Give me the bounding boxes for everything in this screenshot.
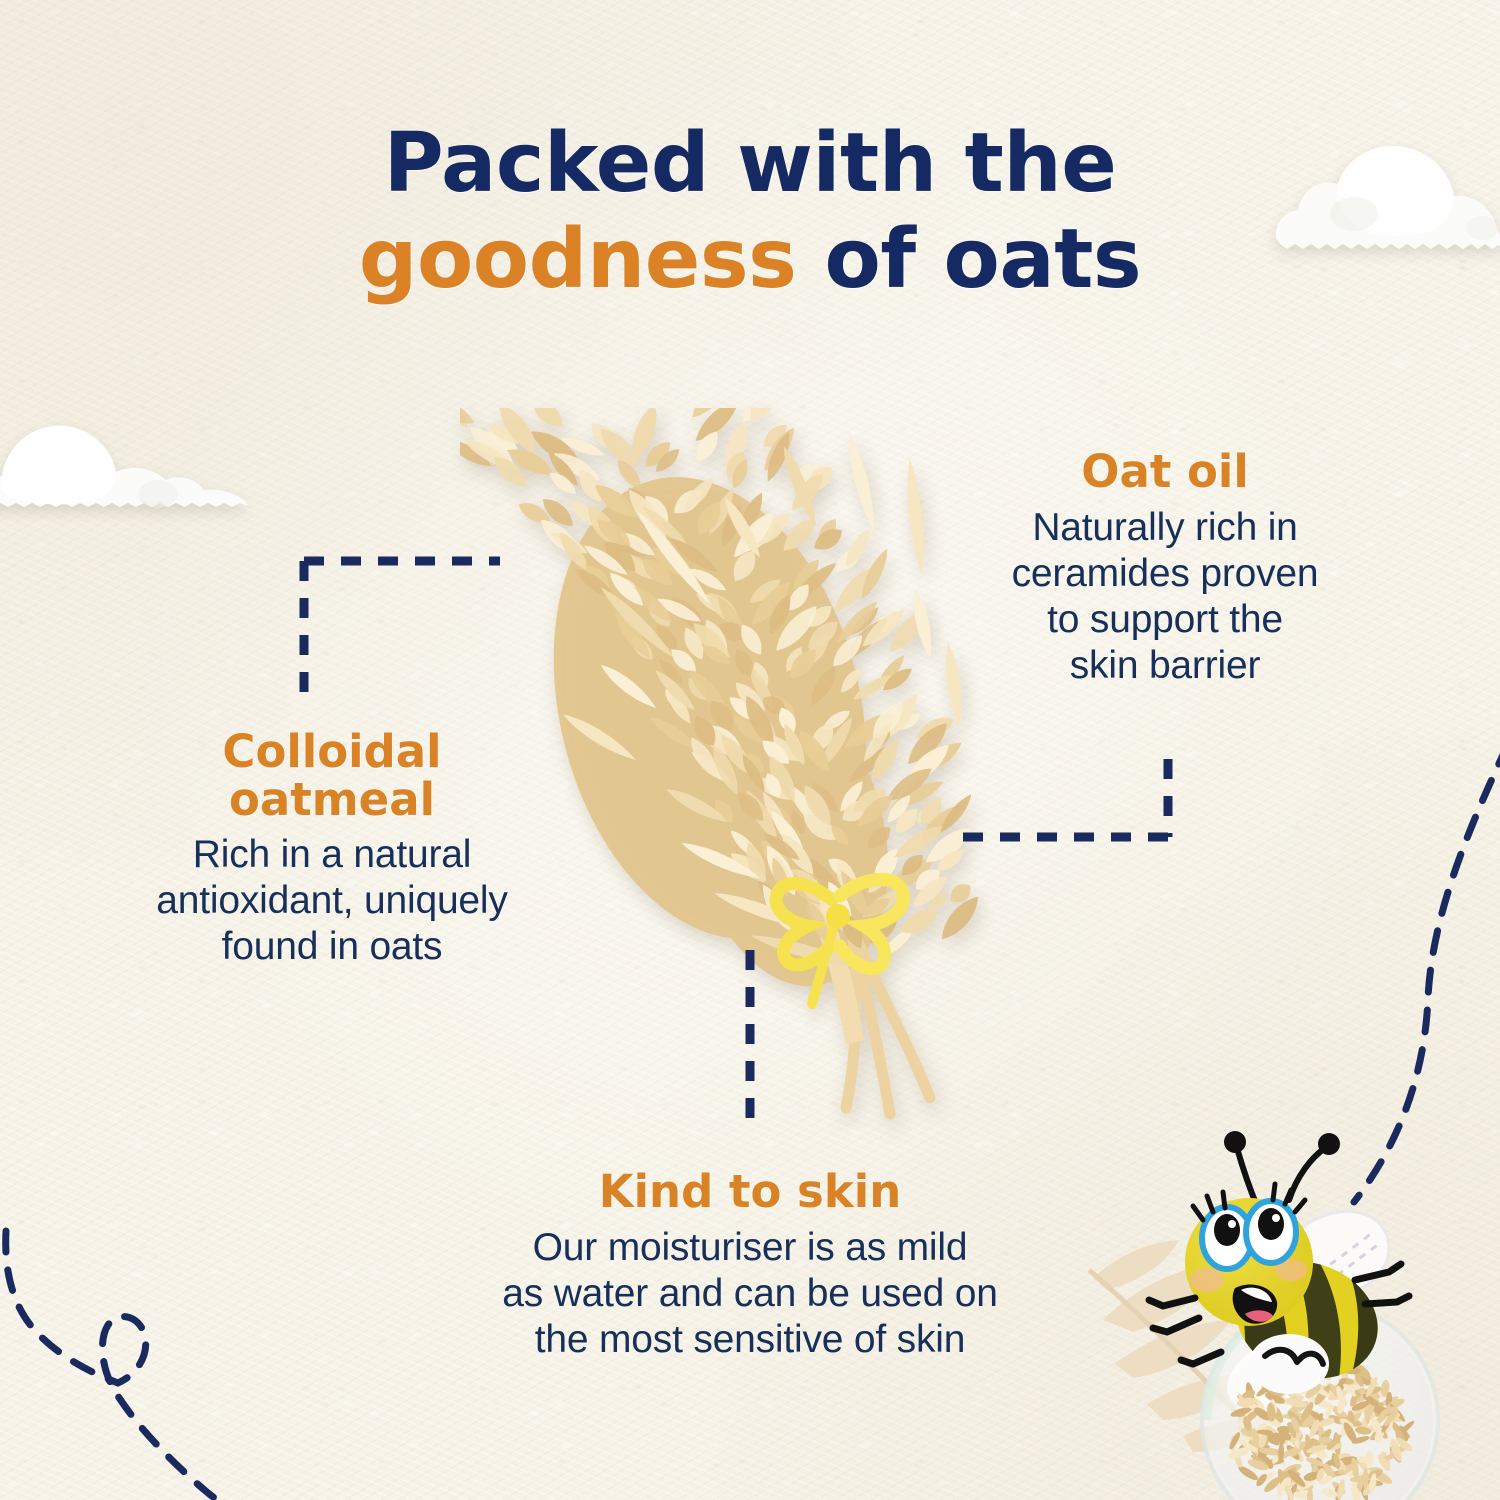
callout-body-line: as water and can be used on bbox=[400, 1271, 1100, 1317]
callout-body-line: found in oats bbox=[52, 924, 612, 970]
cloud-icon bbox=[0, 408, 252, 518]
callout-body-line: ceramides proven bbox=[930, 551, 1400, 597]
callout-title-line: oatmeal bbox=[52, 776, 612, 824]
headline-line-1: Packed with the bbox=[0, 122, 1500, 206]
callout-title-line: Colloidal bbox=[52, 728, 612, 776]
callout-body-oat-oil: Naturally rich in ceramides proven to su… bbox=[930, 505, 1400, 689]
callout-title-colloidal-oatmeal: Colloidal oatmeal bbox=[52, 728, 612, 823]
callout-body-line: the most sensitive of skin bbox=[400, 1317, 1100, 1363]
dashed-connector-icon bbox=[300, 555, 540, 715]
headline-word-goodness: goodness bbox=[359, 212, 797, 307]
bee-and-oat-bowl-scene bbox=[1075, 1120, 1500, 1500]
callout-body-line: to support the bbox=[930, 597, 1400, 643]
callout-body-kind-to-skin: Our moisturiser is as mild as water and … bbox=[400, 1225, 1100, 1363]
callout-body-line: antioxidant, uniquely bbox=[52, 878, 612, 924]
callout-body-line: Our moisturiser is as mild bbox=[400, 1225, 1100, 1271]
dashed-connector-icon bbox=[740, 948, 770, 1128]
callout-body-colloidal-oatmeal: Rich in a natural antioxidant, uniquely … bbox=[52, 832, 612, 970]
page-title: Packed with the goodness of oats bbox=[0, 122, 1500, 301]
dashed-flight-path-loop-icon bbox=[0, 1225, 280, 1500]
dashed-connector-icon bbox=[950, 755, 1180, 855]
headline-word-of-oats: of oats bbox=[796, 212, 1141, 307]
callout-kind-to-skin: Kind to skin Our moisturiser is as mild … bbox=[400, 1168, 1100, 1363]
callout-colloidal-oatmeal: Colloidal oatmeal Rich in a natural anti… bbox=[52, 728, 612, 970]
callout-body-line: Naturally rich in bbox=[930, 505, 1400, 551]
headline-line-2: goodness of oats bbox=[0, 218, 1500, 302]
callout-oat-oil: Oat oil Naturally rich in ceramides prov… bbox=[930, 448, 1400, 689]
callout-body-line: Rich in a natural bbox=[52, 832, 612, 878]
callout-title-kind-to-skin: Kind to skin bbox=[400, 1168, 1100, 1216]
infographic-canvas: Packed with the goodness of oats Oat oil… bbox=[0, 0, 1500, 1500]
callout-title-oat-oil: Oat oil bbox=[930, 448, 1400, 496]
callout-body-line: skin barrier bbox=[930, 643, 1400, 689]
